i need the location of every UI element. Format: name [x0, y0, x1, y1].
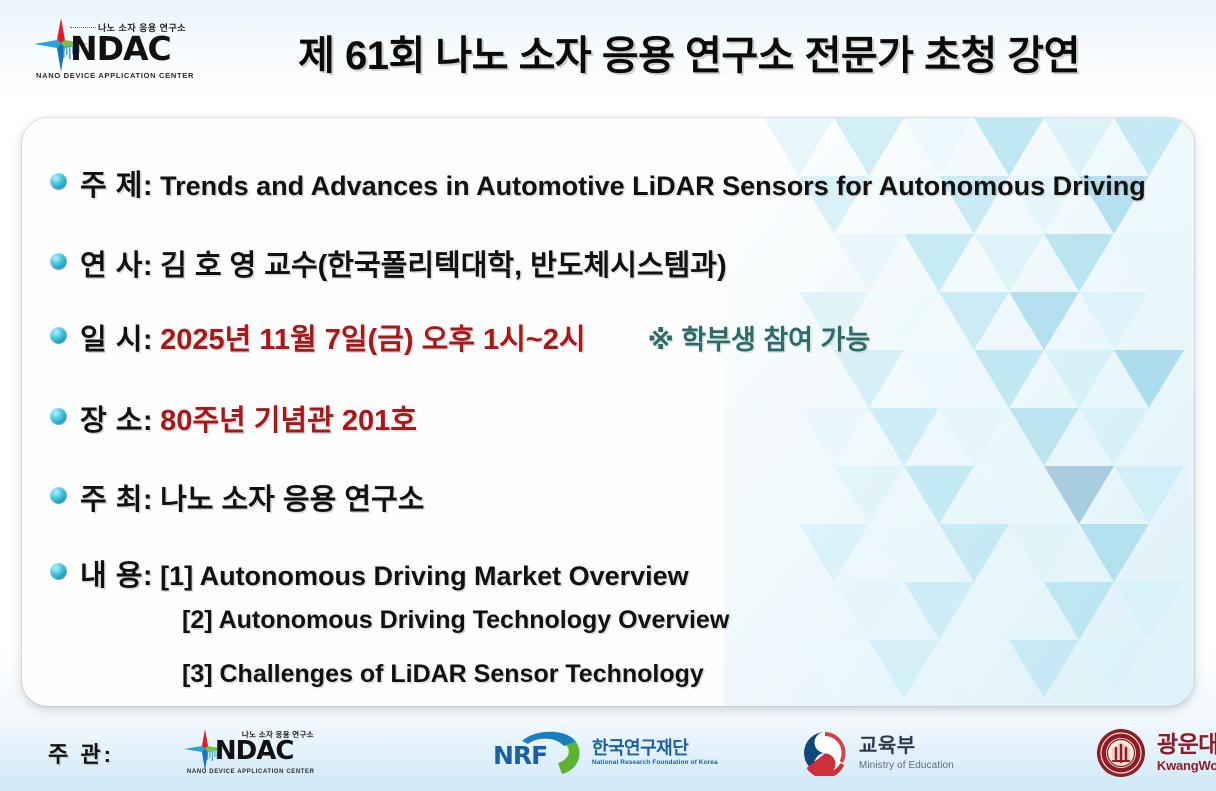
row-contents-value-3: [3] Challenges of LiDAR Sensor Technolog… [182, 660, 704, 689]
bullet-icon [50, 408, 67, 425]
ndac-logo-footer: 나노 소자 응용 연구소 NDAC NANO DEVICE APPLICATIO… [182, 723, 342, 783]
bullet-icon [50, 563, 67, 580]
host-label: 주 관: [48, 737, 114, 769]
bullet-icon [50, 173, 67, 190]
undergraduate-note: ※ 학부생 참여 가능 [648, 318, 871, 357]
info-card: 주 제: Trends and Advances in Automotive L… [22, 118, 1194, 706]
row-subject-label: 주 제: [80, 162, 153, 204]
kwangwoon-ko-name: 광운대학교 [1157, 732, 1216, 757]
poster-footer: 주 관: 나노 소자 응용 연구소 [0, 714, 1216, 791]
kwangwoon-logo: 광운대학교 KwangWoon University [1096, 724, 1216, 782]
row-subject: 주 제: Trends and Advances in Automotive L… [50, 162, 1146, 204]
row-subject-value: Trends and Advances in Automotive LiDAR … [160, 171, 1146, 202]
taegeuk-icon [802, 730, 848, 776]
nrf-en-name: National Research Foundation of Korea [592, 759, 718, 766]
moe-ko-name: 교육부 [859, 735, 954, 758]
row-organizer-label: 주 최: [80, 476, 153, 518]
svg-text:NRF: NRF [493, 741, 547, 770]
nrf-text-block: 한국연구재단 National Research Foundation of K… [592, 739, 718, 767]
moe-logo: 교육부 Ministry of Education [802, 725, 992, 781]
row-speaker: 연 사: 김 호 영 교수(한국폴리텍대학, 반도체시스템과) [50, 242, 727, 284]
moe-text-block: 교육부 Ministry of Education [859, 735, 954, 771]
moe-en-name: Ministry of Education [859, 760, 954, 771]
nrf-logo: NRF 한국연구재단 National Research Foundation … [492, 725, 692, 781]
poster-header: 나노 소자 응용 연구소 NDAC NANO DEVICE APPLICATIO… [0, 0, 1216, 104]
kwangwoon-text-block: 광운대학교 KwangWoon University [1157, 732, 1216, 773]
ndac-en-name: NANO DEVICE APPLICATION CENTER [36, 71, 194, 80]
ndac-acronym: NDAC [215, 738, 294, 764]
row-contents-value-2: [2] Autonomous Driving Technology Overvi… [182, 606, 729, 635]
row-venue-label: 장 소: [80, 397, 153, 439]
row-venue: 장 소: 80주년 기념관 201호 [50, 397, 417, 439]
nrf-swoosh-icon: NRF [492, 728, 588, 778]
kwangwoon-crest-icon [1096, 728, 1146, 778]
bullet-icon [50, 487, 67, 504]
row-contents: 내 용: [1] Autonomous Driving Market Overv… [50, 552, 689, 594]
row-organizer: 주 최: 나노 소자 응용 연구소 [50, 476, 424, 518]
row-organizer-value: 나노 소자 응용 연구소 [160, 476, 424, 518]
row-venue-value: 80주년 기념관 201호 [160, 397, 417, 439]
bullet-icon [50, 327, 67, 344]
ndac-logo-header: 나노 소자 응용 연구소 NDAC NANO DEVICE APPLICATIO… [32, 14, 202, 90]
kwangwoon-en-name: KwangWoon University [1157, 758, 1216, 773]
ndac-acronym: NDAC [70, 32, 171, 65]
page-title: 제 61회 나노 소자 응용 연구소 전문가 초청 강연 [202, 23, 1216, 81]
row-speaker-label: 연 사: [80, 242, 153, 284]
info-rows: 주 제: Trends and Advances in Automotive L… [22, 118, 1194, 706]
nrf-ko-name: 한국연구재단 [592, 739, 718, 759]
sponsor-logos: 나노 소자 응용 연구소 NDAC NANO DEVICE APPLICATIO… [114, 723, 1216, 783]
row-speaker-value: 김 호 영 교수(한국폴리텍대학, 반도체시스템과) [160, 242, 727, 284]
bullet-icon [50, 253, 67, 270]
row-contents-value-1: [1] Autonomous Driving Market Overview [160, 561, 689, 592]
ndac-en-name: NANO DEVICE APPLICATION CENTER [187, 769, 315, 775]
row-datetime-label: 일 시: [80, 316, 153, 358]
row-datetime: 일 시: 2025년 11월 7일(금) 오후 1시~2시 ※ 학부생 참여 가… [50, 316, 870, 358]
seminar-poster: 나노 소자 응용 연구소 NDAC NANO DEVICE APPLICATIO… [0, 0, 1216, 791]
row-datetime-value: 2025년 11월 7일(금) 오후 1시~2시 [160, 316, 585, 358]
row-contents-label: 내 용: [80, 552, 153, 594]
